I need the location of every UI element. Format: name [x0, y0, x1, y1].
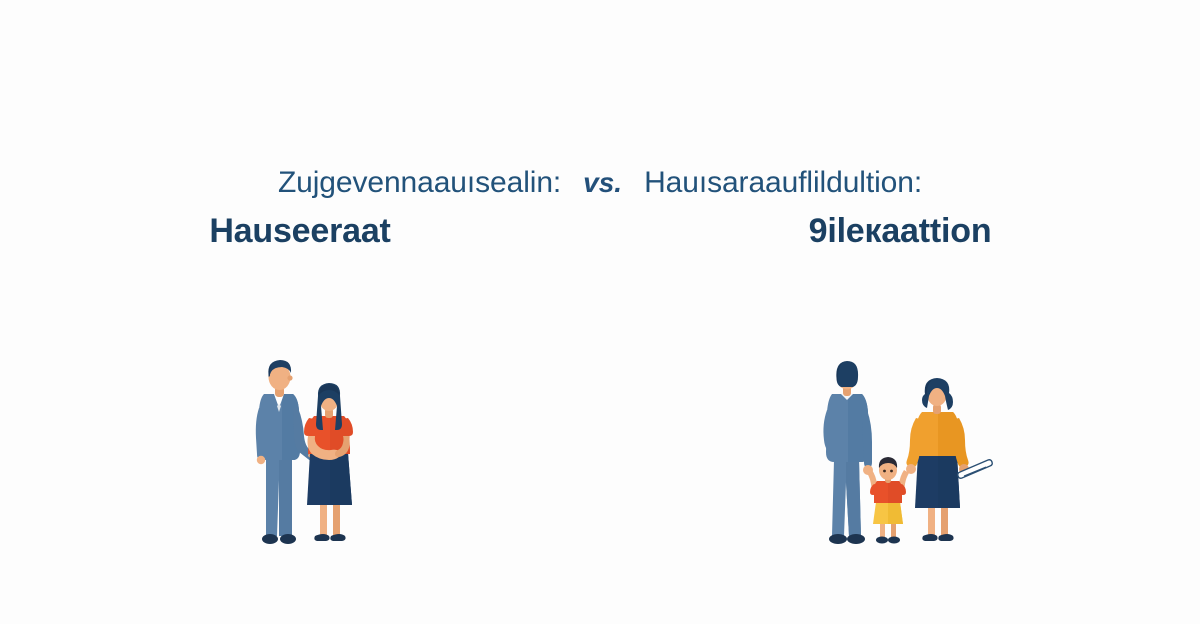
- left-term-label: Zujgevennaauısealin:: [278, 163, 561, 203]
- figure-woman-orange: [906, 378, 992, 541]
- right-term-label: Hauısaraauflildultion:: [644, 163, 922, 203]
- right-term-value: 9ileкaattion: [600, 208, 1200, 254]
- illustration-couple: [236, 350, 376, 550]
- illustration-stage: [0, 330, 1200, 550]
- figure-child: [867, 457, 909, 544]
- slide-canvas: Zujgevennaauısealin: vs. Hauısaraauflild…: [0, 0, 1200, 624]
- figure-woman-front: [304, 383, 353, 541]
- heading-labels-row: Zujgevennaauısealin: vs. Hauısaraauflild…: [0, 160, 1200, 206]
- illustration-family: [812, 350, 1002, 550]
- comparison-heading: Zujgevennaauısealin: vs. Hauısaraauflild…: [0, 160, 1200, 275]
- heading-values-row: Hauseeraat 9ileкaattion: [0, 208, 1200, 260]
- versus-separator: vs.: [561, 163, 644, 203]
- left-term-value: Hauseeraat: [0, 208, 600, 254]
- figure-man-back: [823, 361, 873, 544]
